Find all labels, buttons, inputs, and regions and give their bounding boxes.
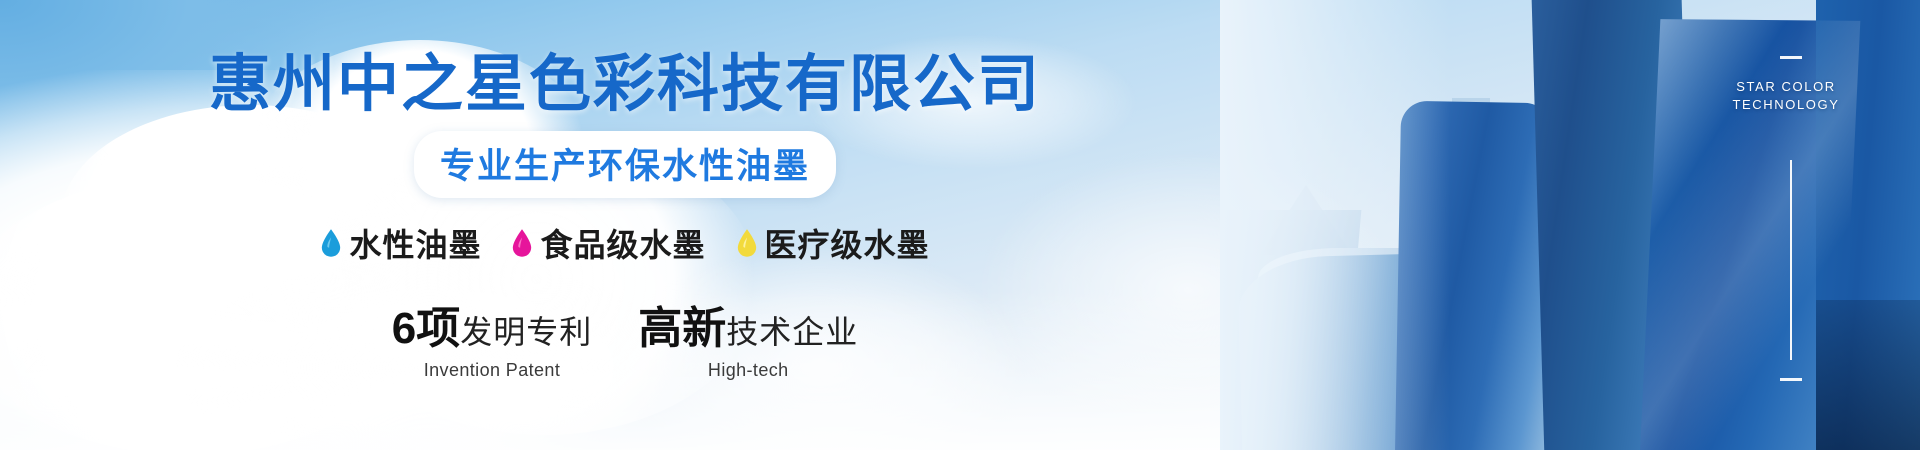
tagline-badge: 专业生产环保水性油墨 bbox=[414, 131, 836, 198]
building-brand-line2: TECHNOLOGY bbox=[1686, 96, 1886, 114]
feature-label: 食品级水墨 bbox=[540, 220, 705, 266]
honor-strong: 6项 bbox=[392, 292, 460, 356]
feature-label: 水性油墨 bbox=[349, 220, 481, 266]
water-drop-icon bbox=[511, 228, 533, 258]
skyscrapers-photo bbox=[1220, 0, 1920, 450]
honor-item-hightech: 高新 技术企业 High-tech bbox=[638, 292, 858, 381]
feature-item: 食品级水墨 bbox=[511, 220, 705, 266]
accent-vertical-rule bbox=[1790, 160, 1792, 360]
feature-item: 水性油墨 bbox=[320, 220, 481, 266]
honor-item-patent: 6项 发明专利 Invention Patent bbox=[392, 292, 593, 381]
honors-list: 6项 发明专利 Invention Patent 高新 技术企业 High-te… bbox=[392, 292, 859, 381]
banner-content: 惠州中之星色彩科技有限公司 专业生产环保水性油墨 水性油墨 食品级水墨 bbox=[0, 0, 1250, 450]
honor-chinese: 6项 发明专利 bbox=[392, 292, 593, 356]
accent-dash-top bbox=[1780, 56, 1802, 59]
honor-english: Invention Patent bbox=[424, 360, 561, 381]
company-title: 惠州中之星色彩科技有限公司 bbox=[209, 52, 1041, 117]
building-center-tower bbox=[1395, 101, 1551, 450]
water-drop-icon bbox=[320, 228, 342, 258]
building-brand-line1: STAR COLOR bbox=[1686, 78, 1886, 96]
feature-list: 水性油墨 食品级水墨 医疗级水墨 bbox=[320, 220, 929, 266]
water-drop-icon bbox=[736, 228, 758, 258]
honor-rest: 发明专利 bbox=[460, 307, 592, 353]
building-brand-label: STAR COLOR TECHNOLOGY bbox=[1686, 78, 1886, 114]
accent-dash-bottom bbox=[1780, 378, 1802, 381]
building-right-shadow bbox=[1816, 300, 1920, 450]
honor-english: High-tech bbox=[708, 360, 789, 381]
feature-item: 医疗级水墨 bbox=[736, 220, 930, 266]
honor-strong: 高新 bbox=[638, 292, 726, 356]
feature-label: 医疗级水墨 bbox=[765, 220, 930, 266]
company-banner: Star Color STAR COLOR TECHNOLOGY 惠州中之星色彩… bbox=[0, 0, 1920, 450]
honor-rest: 技术企业 bbox=[726, 307, 858, 353]
honor-chinese: 高新 技术企业 bbox=[638, 292, 858, 356]
